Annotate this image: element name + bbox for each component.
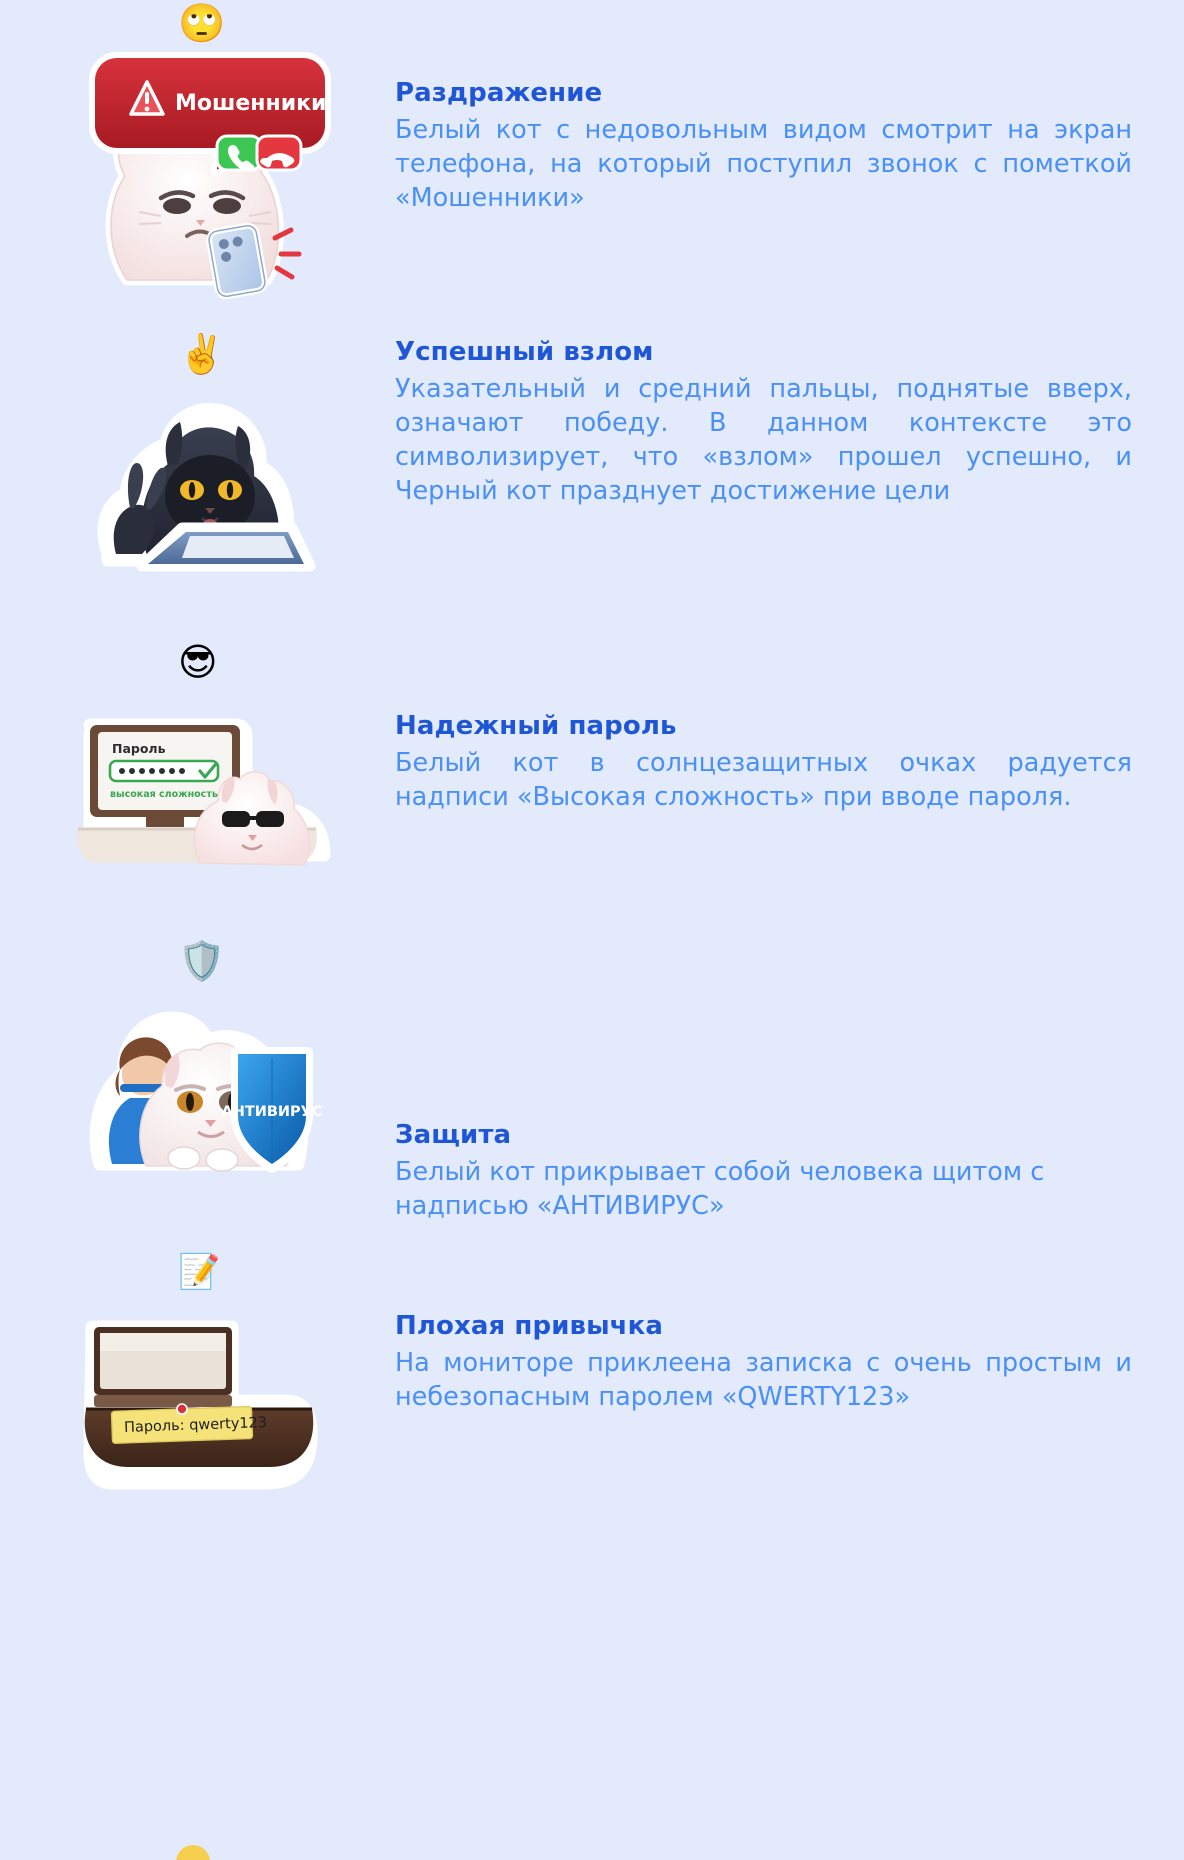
white-cat-sunglasses-monitor-sticker: Пароль высокая сложность	[72, 703, 322, 883]
card-strong-password: 😎 Пароль	[0, 625, 1184, 925]
card-protection: 🛡️	[0, 930, 1184, 1260]
card-title: Успешный взлом	[395, 337, 1132, 367]
card-irritation: 🙄	[0, 0, 1184, 300]
card-bad-habit-art: 📝	[0, 1255, 395, 1585]
call-action-buttons	[217, 136, 301, 172]
password-field-label: Пароль	[112, 741, 166, 756]
shield-emoji: 🛡️	[178, 942, 225, 980]
card-title: Надежный пароль	[395, 711, 1132, 741]
card-bad-habit: 📝	[0, 1255, 1184, 1585]
password-strength-label: высокая сложность	[110, 789, 218, 800]
card-body: Белый кот в солнцезащитных очках радуетс…	[395, 746, 1132, 814]
monitor-shape	[94, 1327, 232, 1407]
card-successful-hack-text: Успешный взлом Указательный и средний па…	[395, 300, 1184, 509]
sticker-guide-page: 🙄	[0, 0, 1184, 1860]
ringing-lines	[275, 230, 299, 277]
next-card-emoji-peek	[176, 1845, 210, 1860]
card-title: Защита	[395, 1120, 1132, 1150]
card-successful-hack-art: ✌️	[0, 300, 395, 620]
smiling-face-with-sunglasses-emoji: 😎	[178, 643, 218, 681]
white-cat-scam-call-sticker: Мошенники	[95, 52, 315, 287]
victory-hand-emoji: ✌️	[178, 335, 225, 373]
card-body: Белый кот с недовольным видом смотрит на…	[395, 113, 1132, 215]
card-irritation-art: 🙄	[0, 0, 395, 300]
smartphone-shape	[208, 224, 267, 297]
card-irritation-text: Раздражение Белый кот с недовольным видо…	[395, 0, 1184, 215]
card-protection-text: Защита Белый кот прикрывает собой челове…	[395, 930, 1184, 1223]
scam-banner-label: Мошенники	[175, 91, 326, 116]
sticky-note-shape: Пароль: qwerty123	[111, 1406, 267, 1443]
card-protection-art: 🛡️	[0, 930, 395, 1260]
card-body: Белый кот прикрывает собой человека щито…	[395, 1155, 1132, 1223]
card-body: На мониторе приклеена записка с очень пр…	[395, 1346, 1132, 1414]
card-body: Указательный и средний пальцы, поднятые …	[395, 372, 1132, 509]
card-strong-password-text: Надежный пароль Белый кот в солнцезащитн…	[395, 625, 1184, 814]
card-successful-hack: ✌️	[0, 300, 1184, 620]
memo-emoji: 📝	[178, 1255, 220, 1289]
card-title: Раздражение	[395, 78, 1132, 108]
black-hacker-cat-sticker	[86, 384, 316, 574]
push-pin-icon	[177, 1404, 187, 1414]
face-with-rolling-eyes-emoji: 🙄	[178, 4, 225, 42]
card-strong-password-art: 😎 Пароль	[0, 625, 395, 925]
monitor-sticky-note-password-sticker: Пароль: qwerty123	[84, 1317, 314, 1487]
card-title: Плохая привычка	[395, 1311, 1132, 1341]
card-bad-habit-text: Плохая привычка На мониторе приклеена за…	[395, 1255, 1184, 1414]
white-cat-antivirus-shield-sticker: АНТИВИРУС	[86, 998, 316, 1178]
antivirus-shield-label: АНТИВИРУС	[221, 1104, 322, 1120]
